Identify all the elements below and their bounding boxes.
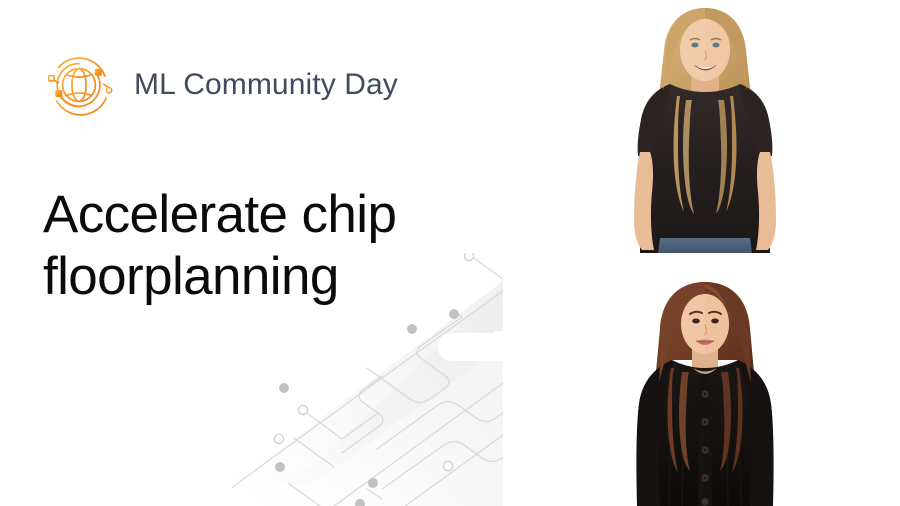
headline-line-1: Accelerate chip	[43, 184, 483, 246]
presenter-photo-top	[620, 0, 790, 253]
presenter-photo-bottom	[620, 276, 790, 506]
circuit-trace-artwork	[232, 253, 503, 506]
slide-canvas: ML Community Day Accelerate chip floorpl…	[0, 0, 900, 506]
brand-lockup: ML Community Day	[38, 44, 398, 126]
globe-orbit-logo-icon	[38, 44, 120, 126]
brand-wordmark: ML Community Day	[134, 70, 398, 100]
